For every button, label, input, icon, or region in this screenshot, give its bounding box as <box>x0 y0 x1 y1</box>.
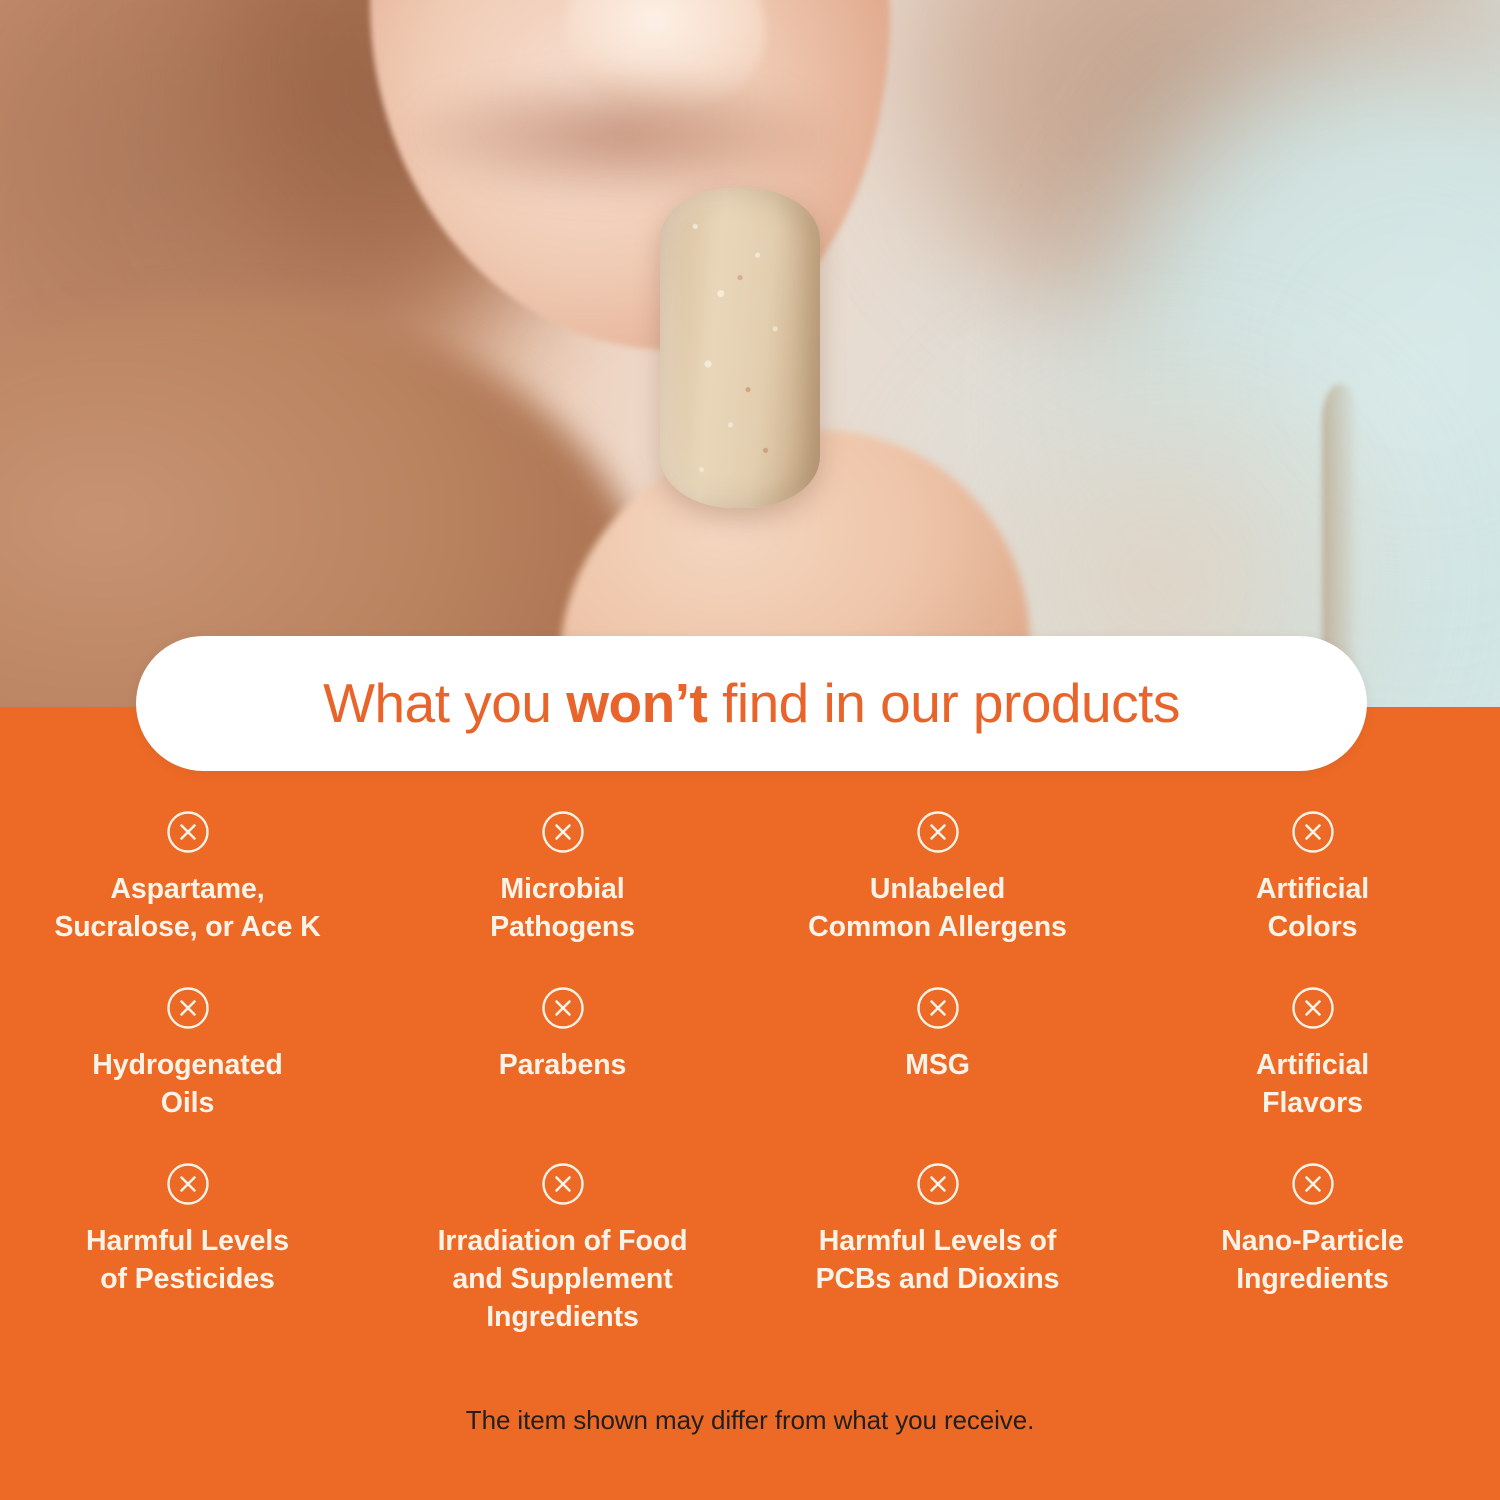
grid-item: Unlabeled Common Allergens <box>750 810 1125 986</box>
grid-item: Harmful Levels of Pesticides <box>0 1162 375 1338</box>
title-banner: What you won’t find in our products <box>136 636 1367 771</box>
x-circle-icon <box>541 986 585 1030</box>
x-circle-icon <box>916 986 960 1030</box>
grid-item: MSG <box>750 986 1125 1162</box>
disclaimer-text: The item shown may differ from what you … <box>0 1405 1500 1436</box>
grid-item-label: Hydrogenated Oils <box>92 1046 282 1122</box>
grid-item-label: Parabens <box>499 1046 627 1084</box>
title-emphasis: won’t <box>566 672 707 734</box>
grid-item: Nano-Particle Ingredients <box>1125 1162 1500 1338</box>
x-circle-icon <box>1291 810 1335 854</box>
grid-item-label: Nano-Particle Ingredients <box>1221 1222 1403 1298</box>
x-circle-icon <box>541 1162 585 1206</box>
title-suffix: find in our products <box>707 672 1180 734</box>
x-circle-icon <box>166 986 210 1030</box>
title-prefix: What you <box>323 672 566 734</box>
grid-item-label: Unlabeled Common Allergens <box>808 870 1067 946</box>
tablet-edge-highlight <box>1322 384 1358 684</box>
excluded-ingredients-grid: Aspartame, Sucralose, or Ace K Microbial… <box>0 810 1500 1338</box>
grid-item: Artificial Colors <box>1125 810 1500 986</box>
grid-item-label: Artificial Flavors <box>1256 1046 1369 1122</box>
grid-item-label: Harmful Levels of PCBs and Dioxins <box>816 1222 1060 1298</box>
x-circle-icon <box>166 810 210 854</box>
grid-item: Microbial Pathogens <box>375 810 750 986</box>
x-circle-icon <box>166 1162 210 1206</box>
supplement-tablet <box>660 188 820 508</box>
grid-item: Artificial Flavors <box>1125 986 1500 1162</box>
grid-item: Harmful Levels of PCBs and Dioxins <box>750 1162 1125 1338</box>
product-photo <box>0 0 1500 712</box>
x-circle-icon <box>916 1162 960 1206</box>
grid-item-label: Microbial Pathogens <box>490 870 635 946</box>
thumb-shadow <box>400 70 840 200</box>
x-circle-icon <box>916 810 960 854</box>
page-title: What you won’t find in our products <box>323 676 1180 731</box>
grid-item: Irradiation of Food and Supplement Ingre… <box>375 1162 750 1338</box>
product-infographic: What you won’t find in our products Aspa… <box>0 0 1500 1500</box>
grid-item-label: Irradiation of Food and Supplement Ingre… <box>438 1222 688 1336</box>
grid-item: Parabens <box>375 986 750 1162</box>
x-circle-icon <box>1291 986 1335 1030</box>
grid-item: Hydrogenated Oils <box>0 986 375 1162</box>
grid-item-label: Artificial Colors <box>1256 870 1369 946</box>
grid-item-label: Aspartame, Sucralose, or Ace K <box>54 870 320 946</box>
grid-item: Aspartame, Sucralose, or Ace K <box>0 810 375 986</box>
grid-item-label: Harmful Levels of Pesticides <box>86 1222 289 1298</box>
x-circle-icon <box>1291 1162 1335 1206</box>
x-circle-icon <box>541 810 585 854</box>
grid-item-label: MSG <box>905 1046 970 1084</box>
